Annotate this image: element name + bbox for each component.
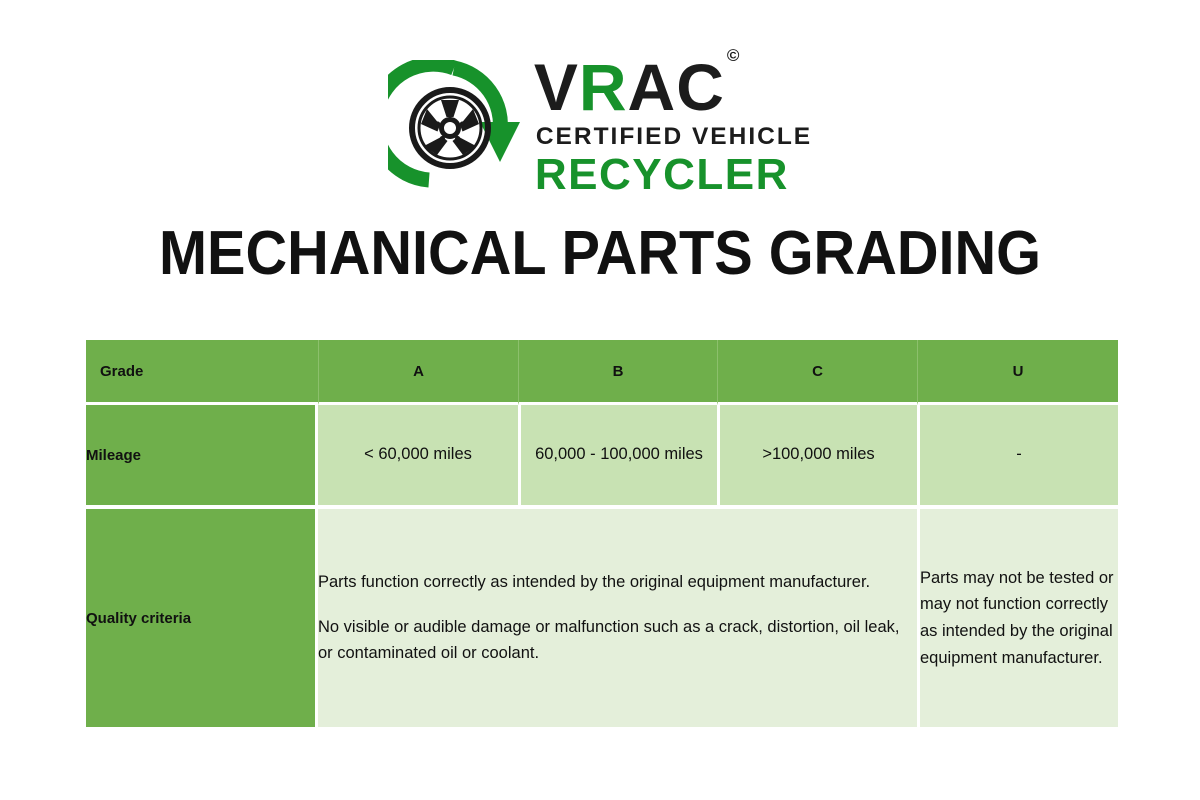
- grading-table: Grade A B C U Mileage < 60,000 miles 60,…: [86, 340, 1118, 727]
- brand-tagline: CERTIFIED VEHICLE: [536, 125, 812, 150]
- quality-paragraph-2: No visible or audible damage or malfunct…: [318, 614, 917, 667]
- quality-paragraph-1: Parts function correctly as intended by …: [318, 569, 917, 596]
- mileage-grade-c: >100,000 miles: [717, 405, 917, 505]
- mileage-grade-u: -: [917, 405, 1118, 505]
- column-header-b: B: [518, 340, 717, 405]
- table-header-row: Grade A B C U: [86, 340, 1118, 405]
- brand-letters-ac: AC: [628, 50, 725, 124]
- row-label-quality-criteria: Quality criteria: [86, 509, 318, 727]
- column-header-u: U: [917, 340, 1118, 405]
- column-header-a: A: [318, 340, 518, 405]
- brand-logo: VRAC© CERTIFIED VEHICLE RECYCLER: [0, 48, 1200, 203]
- table-row-mileage: Mileage < 60,000 miles 60,000 - 100,000 …: [86, 405, 1118, 505]
- mileage-grade-b: 60,000 - 100,000 miles: [518, 405, 717, 505]
- recycling-wheel-icon: [388, 60, 520, 192]
- brand-word-recycler: RECYCLER: [535, 153, 812, 197]
- column-header-c: C: [717, 340, 917, 405]
- row-label-mileage: Mileage: [86, 405, 318, 505]
- column-header-grade: Grade: [86, 340, 318, 405]
- copyright-icon: ©: [727, 46, 741, 65]
- table-row-quality-criteria: Quality criteria Parts function correctl…: [86, 509, 1118, 727]
- quality-criteria-u: Parts may not be tested or may not funct…: [917, 509, 1118, 727]
- mileage-grade-a: < 60,000 miles: [318, 405, 518, 505]
- brand-letter-v: V: [534, 50, 579, 124]
- quality-criteria-abc: Parts function correctly as intended by …: [318, 509, 917, 727]
- brand-letter-r: R: [579, 50, 628, 124]
- brand-wordmark: VRAC©: [534, 54, 812, 120]
- page-title: MECHANICAL PARTS GRADING: [42, 218, 1158, 289]
